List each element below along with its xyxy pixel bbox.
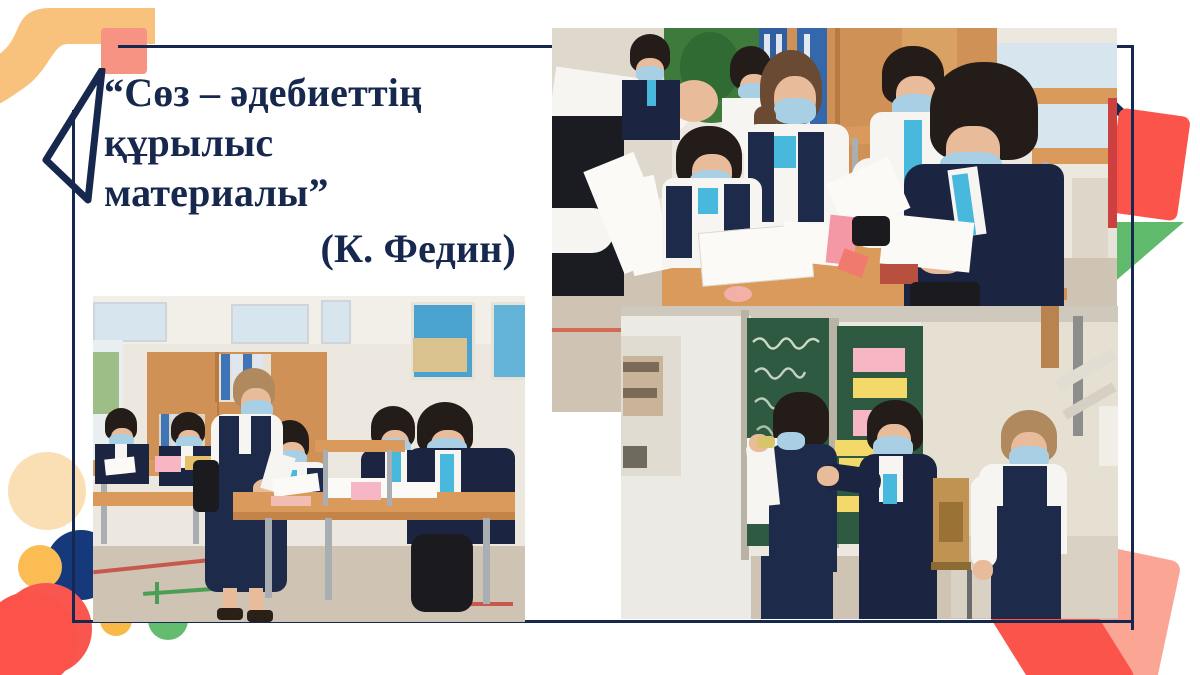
title-line-3: материалы” (104, 168, 534, 218)
green-triangle-shape (1112, 222, 1184, 284)
title-line-2: құрылыс (104, 118, 534, 168)
frame-line-right (1131, 45, 1134, 630)
frame-line-left (72, 110, 75, 623)
slide-title: “Сөз – әдебиеттің құрылыс материалы” (К.… (104, 68, 534, 274)
presentation-slide: “Сөз – әдебиеттің құрылыс материалы” (К.… (0, 0, 1200, 675)
photo-teacher-handing-papers (93, 296, 525, 622)
photo-students-at-chalkboard (621, 306, 1118, 619)
red-rect-right-shape (1105, 108, 1191, 222)
title-line-1: “Сөз – әдебиеттің (104, 68, 534, 118)
title-attribution: (К. Федин) (104, 224, 534, 274)
